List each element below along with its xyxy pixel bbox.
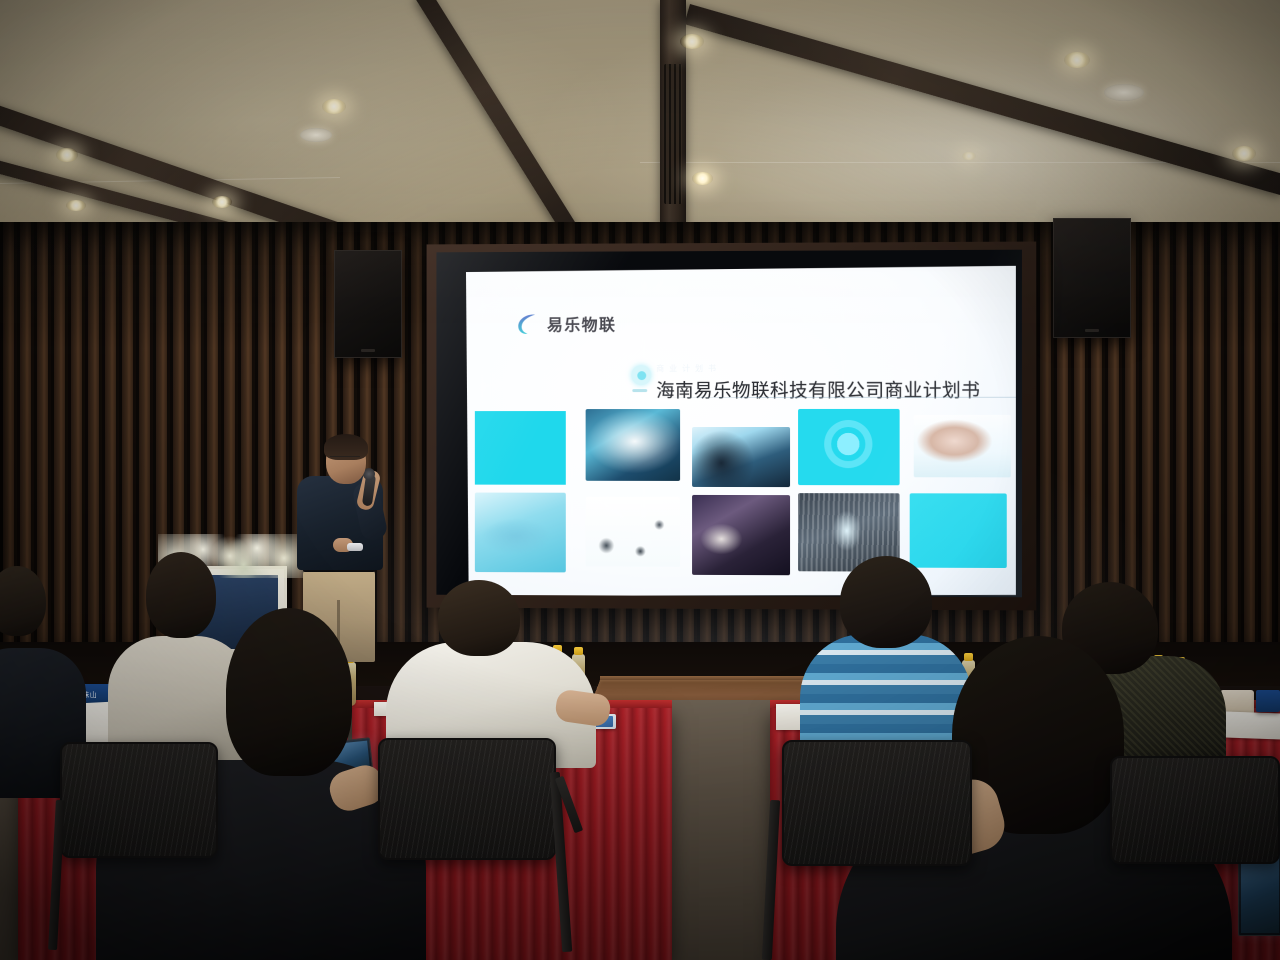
ceiling-beam-right	[684, 4, 1280, 195]
grid-tile-parts-photo	[582, 493, 684, 577]
ceiling-round-fixture	[300, 128, 332, 142]
chair-far-right	[1110, 756, 1280, 864]
ceiling-spotlight	[692, 172, 713, 185]
speaker-right	[1053, 218, 1131, 338]
speaker-left	[334, 250, 402, 358]
slide-subtitle-faint: 商业计划书	[656, 363, 980, 375]
ceiling-spotlight	[1064, 52, 1090, 68]
ceiling-spotlight	[680, 34, 704, 49]
grid-tile-hand-device-photo	[907, 409, 1011, 494]
ceiling-round-fixture	[1104, 84, 1144, 101]
ceiling-spotlight	[212, 196, 232, 208]
slide-logo: 易乐物联	[513, 309, 616, 336]
location-pin-icon	[630, 365, 652, 399]
grid-tile-car-dashboard-photo	[690, 493, 792, 577]
ceiling-spotlight	[66, 200, 86, 211]
grid-tile-cyan-block-1	[475, 409, 576, 493]
projection-screen: 易乐物联 商业计划书 海南易乐物联科技有限公司商业计划书	[427, 242, 1037, 611]
ceiling-beam-centre	[416, 0, 600, 250]
grid-tile-cyan-block-2	[907, 493, 1011, 578]
grid-tile-device-cyan-photo	[475, 493, 576, 577]
presenter-glasses	[330, 456, 360, 462]
chair-centre	[378, 738, 556, 860]
attendee-white-shirt-1-head	[146, 552, 216, 638]
ceiling-vent	[664, 64, 682, 204]
ceiling-spotlight	[322, 99, 346, 114]
name-placard-right	[1256, 690, 1280, 712]
grid-tile-steering-wheel-photo	[690, 409, 792, 493]
presentation-clicker	[347, 543, 363, 551]
grid-tile-location-pin-block	[798, 409, 901, 493]
ceiling-spotlight	[962, 152, 976, 160]
slide-logo-text: 易乐物联	[547, 311, 616, 335]
ceiling-spotlight	[1232, 146, 1256, 161]
swirl-spiral-icon	[513, 310, 540, 337]
attendee-white-shirt-2-head	[438, 580, 520, 656]
attendee-blue-stripe-head	[840, 556, 932, 648]
chair-left	[60, 742, 218, 858]
slide-image-grid	[475, 409, 1011, 578]
slide-title: 海南易乐物联科技有限公司商业计划书	[656, 377, 980, 403]
ceiling	[0, 0, 1280, 250]
slide-canvas: 易乐物联 商业计划书 海南易乐物联科技有限公司商业计划书	[466, 266, 1016, 597]
chair-right	[782, 740, 972, 866]
ceiling-spotlight	[56, 148, 78, 162]
screen-surface: 易乐物联 商业计划书 海南易乐物联科技有限公司商业计划书	[436, 250, 1022, 598]
attendee-black-polo-head	[226, 608, 352, 776]
grid-tile-driving-photo	[582, 409, 684, 493]
conference-room-photo: 易乐物联 商业计划书 海南易乐物联科技有限公司商业计划书	[0, 0, 1280, 960]
